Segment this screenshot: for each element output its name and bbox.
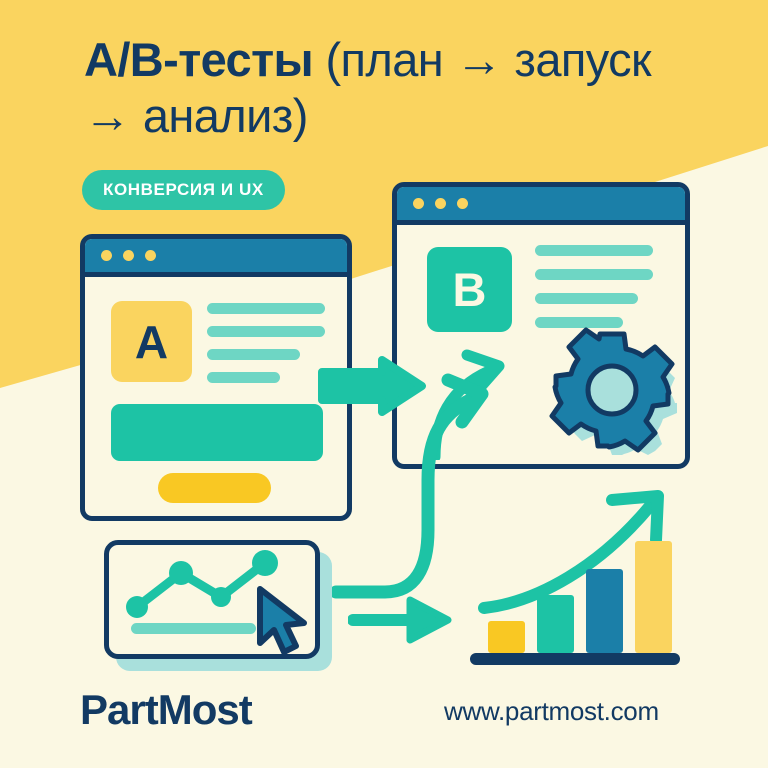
text-line xyxy=(535,245,653,256)
window-a-cta-button[interactable] xyxy=(158,473,271,503)
variant-a-badge: A xyxy=(111,301,192,382)
bar-3 xyxy=(586,569,623,653)
gear-glyph xyxy=(549,327,675,453)
window-dot-close-icon[interactable] xyxy=(413,198,424,209)
bar-chart xyxy=(470,490,685,665)
brand-website: www.partmost.com xyxy=(444,696,659,727)
bar-4 xyxy=(635,541,672,653)
variant-a-label: A xyxy=(135,315,168,369)
arrow-card-to-chart-icon xyxy=(348,594,456,646)
window-dot-maximize-icon[interactable] xyxy=(145,250,156,261)
status-badge-label: КОНВЕРСИЯ И UX xyxy=(103,180,264,200)
page-title: A/B-тесты (план → запуск → анализ) xyxy=(84,32,694,144)
window-dot-close-icon[interactable] xyxy=(101,250,112,261)
window-a-titlebar xyxy=(85,239,347,277)
variant-b-label: B xyxy=(453,262,487,317)
window-b-titlebar xyxy=(397,187,685,225)
text-line xyxy=(535,269,653,280)
text-line xyxy=(207,303,325,314)
data-point xyxy=(126,596,148,618)
browser-window-a[interactable]: A xyxy=(80,234,352,521)
gear-icon xyxy=(549,327,679,457)
status-badge: КОНВЕРСИЯ И UX xyxy=(82,170,285,210)
text-line xyxy=(207,372,280,383)
chart-baseline xyxy=(470,653,680,665)
bar-1 xyxy=(488,621,525,653)
poster-canvas: A/B-тесты (план → запуск → анализ) КОНВЕ… xyxy=(0,0,768,768)
data-point xyxy=(211,587,231,607)
window-dot-minimize-icon[interactable] xyxy=(123,250,134,261)
page-title-bold: A/B-тесты xyxy=(84,33,326,86)
data-point xyxy=(252,550,278,576)
window-a-text-lines xyxy=(207,303,325,383)
cursor-arrow-icon[interactable] xyxy=(253,585,313,657)
brand-logo: PartMost xyxy=(80,686,252,734)
card-caption-bar xyxy=(131,623,256,634)
data-point xyxy=(169,561,193,585)
window-b-text-lines xyxy=(535,245,653,328)
line-chart-card[interactable] xyxy=(104,540,320,659)
window-dot-maximize-icon[interactable] xyxy=(457,198,468,209)
text-line xyxy=(207,349,300,360)
text-line xyxy=(535,293,638,304)
text-line xyxy=(207,326,325,337)
window-a-content-block xyxy=(111,404,323,461)
bar-2 xyxy=(537,595,574,653)
variant-b-badge: B xyxy=(427,247,512,332)
window-dot-minimize-icon[interactable] xyxy=(435,198,446,209)
